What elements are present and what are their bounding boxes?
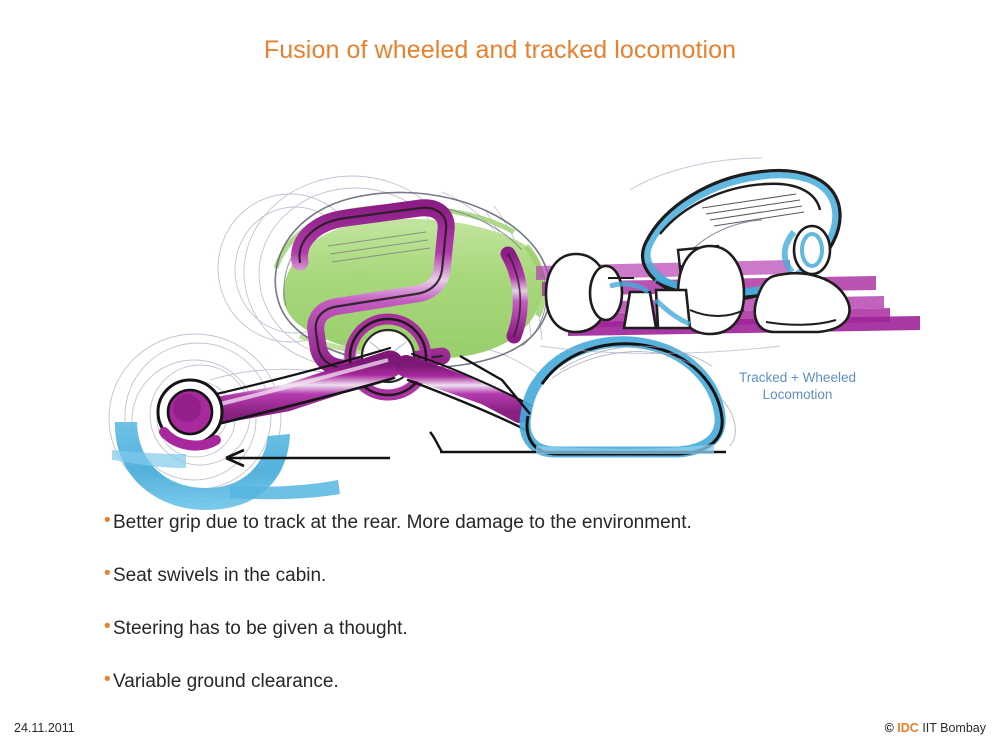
list-item: • Steering has to be given a thought. — [104, 618, 934, 671]
presentation-slide: Fusion of wheeled and tracked locomotion — [0, 0, 1000, 750]
bullet-list: • Better grip due to track at the rear. … — [104, 512, 934, 724]
front-wheel-hub — [158, 380, 222, 446]
footer-date: 24.11.2011 — [14, 721, 75, 735]
footer-credit: © IDC IIT Bombay — [885, 721, 986, 735]
sketch-small-vehicle — [536, 158, 920, 354]
sketch-caption: Tracked + Wheeled Locomotion — [700, 369, 895, 403]
list-item: • Seat swivels in the cabin. — [104, 565, 934, 618]
small-vehicle-rear-cylinder — [785, 226, 830, 274]
bullet-dot-icon: • — [104, 511, 113, 530]
bullet-text: Seat swivels in the cabin. — [113, 565, 934, 587]
arrow-left-icon — [226, 450, 390, 466]
sketch-caption-line-1: Tracked + Wheeled — [700, 369, 895, 386]
bullet-text: Steering has to be given a thought. — [113, 618, 934, 640]
bullet-dot-icon: • — [104, 670, 113, 689]
swing-arm-purple — [198, 348, 394, 426]
concept-sketch-artwork — [90, 150, 920, 510]
copyright-icon: © — [885, 721, 894, 735]
slide-footer: 24.11.2011 © IDC IIT Bombay — [0, 714, 1000, 750]
page-title: Fusion of wheeled and tracked locomotion — [0, 36, 1000, 65]
bullet-dot-icon: • — [104, 617, 113, 636]
list-item: • Better grip due to track at the rear. … — [104, 512, 934, 565]
bullet-text: Variable ground clearance. — [113, 671, 934, 693]
front-wheel-blue-marker — [112, 422, 340, 510]
sketch-caption-line-2: Locomotion — [700, 386, 895, 403]
bullet-dot-icon: • — [104, 564, 113, 583]
sketch-large-vehicle — [109, 176, 735, 510]
footer-org-short: IDC — [897, 721, 919, 735]
footer-org-long: IIT Bombay — [922, 721, 986, 735]
bullet-text: Better grip due to track at the rear. Mo… — [113, 512, 934, 534]
